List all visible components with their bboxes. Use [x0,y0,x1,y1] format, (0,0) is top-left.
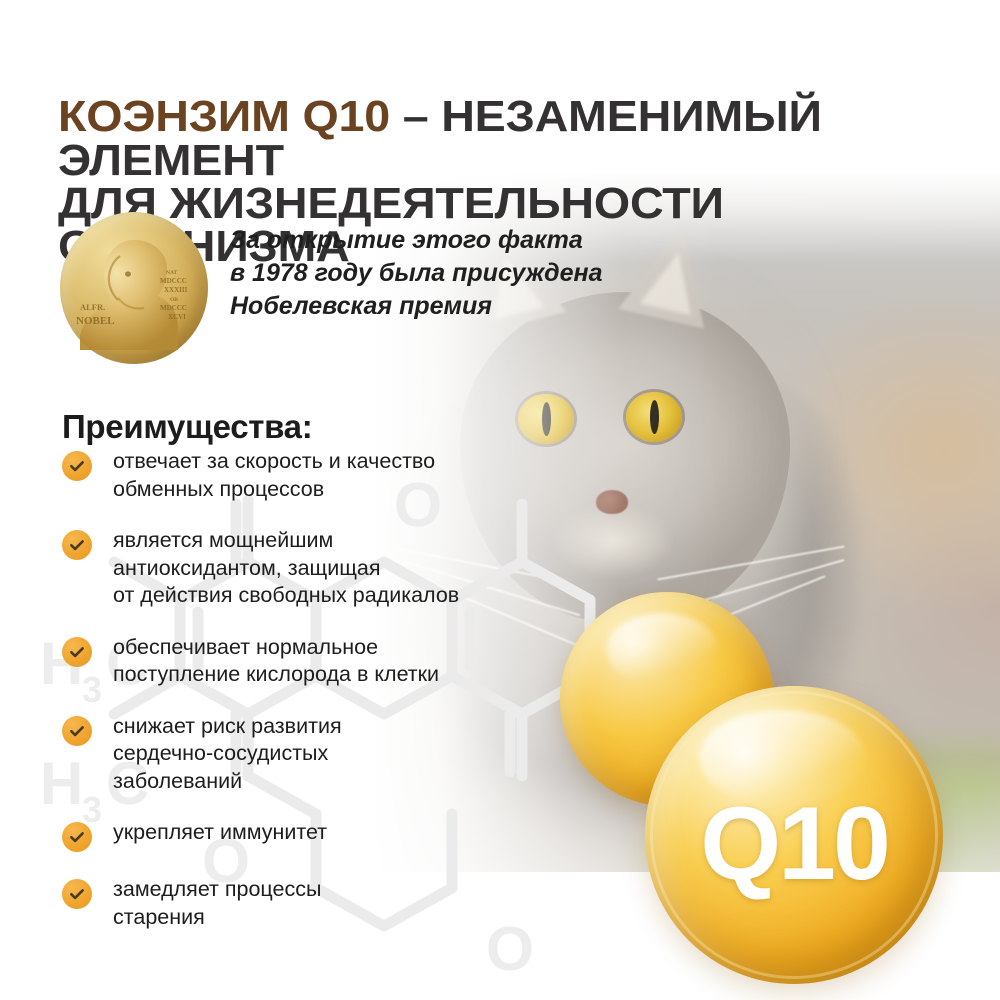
list-item-label: укрепляет иммунитет [113,819,327,847]
capsule-highlight [607,613,718,686]
list-item-label: отвечает за скорость и качество обменных… [113,448,435,503]
check-icon [62,451,92,481]
check-icon [62,637,92,667]
list-item: снижает риск развития сердечно-сосудисты… [62,713,592,796]
capsule-label: Q10 [645,785,943,904]
svg-text:MDCCC: MDCCC [160,277,187,285]
page-title-brand: КОЭНЗИМ Q10 [58,92,390,141]
nobel-prize-block: ALFR. NOBEL NAT MDCCC XXXIII OB MDCCC XC… [60,212,603,364]
nobel-medal-icon: ALFR. NOBEL NAT MDCCC XXXIII OB MDCCC XC… [60,212,208,364]
benefits-heading: Преимущества: [62,408,312,446]
svg-text:OB: OB [170,297,178,303]
capsule-group: Q10 [545,580,1000,1000]
svg-text:NAT: NAT [166,270,178,276]
list-item-label: является мощнейшим антиоксидантом, защищ… [113,527,459,610]
check-icon [62,716,92,746]
check-icon [62,822,92,852]
svg-text:XXXIII: XXXIII [164,286,188,294]
infographic-poster: O O O H 3 C H 3 C КОЭНЗИМ Q10 – НЕЗАМЕНИ… [0,0,1000,1000]
svg-text:NOBEL: NOBEL [76,315,115,327]
svg-text:MDCCC: MDCCC [160,304,187,312]
check-icon [62,879,92,909]
nobel-caption: За открытие этого факта в 1978 году была… [230,212,603,323]
svg-text:ALFR.: ALFR. [80,302,105,312]
list-item: отвечает за скорость и качество обменных… [62,448,592,503]
svg-text:XCVI: XCVI [168,313,186,321]
check-icon [62,530,92,560]
list-item: укрепляет иммунитет [62,819,592,852]
benefits-list: отвечает за скорость и качество обменных… [62,448,592,931]
list-item-label: замедляет процессы старения [113,876,321,931]
list-item: является мощнейшим антиоксидантом, защищ… [62,527,592,610]
softgel-capsule-icon: Q10 [645,686,943,984]
list-item-label: снижает риск развития сердечно-сосудисты… [113,713,342,796]
list-item: обеспечивает нормальное поступление кисл… [62,634,592,689]
list-item-label: обеспечивает нормальное поступление кисл… [113,634,439,689]
list-item: замедляет процессы старения [62,876,592,931]
